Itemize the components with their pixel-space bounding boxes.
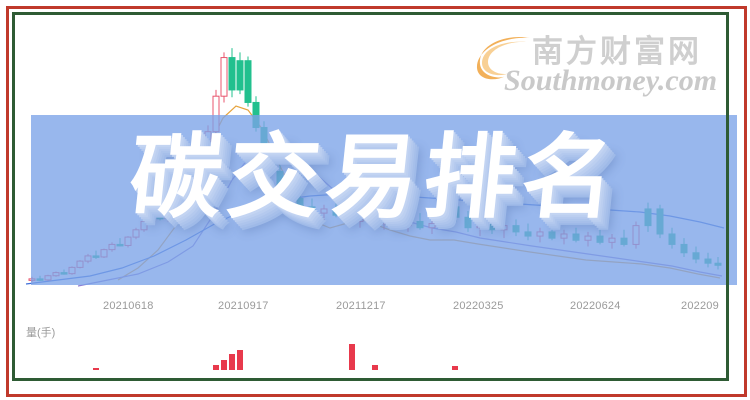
candle-body [237, 61, 243, 90]
candle-body [645, 209, 651, 226]
candle-body [285, 188, 291, 198]
candle-body [125, 237, 131, 245]
candle-body [109, 244, 115, 249]
candle-body [229, 58, 235, 90]
ma-line [78, 146, 722, 286]
candle-body [297, 198, 303, 206]
candle-body [261, 128, 267, 151]
candle-body [417, 221, 423, 227]
candle-body [345, 215, 351, 221]
candle-body [381, 219, 387, 223]
candle-body [37, 279, 43, 281]
candle-body [309, 207, 315, 213]
stock-chart: 2021061820210917202112172022032520220624… [18, 18, 732, 382]
volume-bar [213, 365, 219, 370]
x-axis-tick-label: 20220624 [570, 300, 621, 312]
candle-body [333, 209, 339, 215]
candle-body [441, 207, 447, 224]
candle-body [357, 217, 363, 221]
candle-body [585, 236, 591, 240]
candle-body [85, 256, 91, 261]
volume-bar [372, 365, 378, 370]
candle-body [181, 174, 187, 191]
candle-body [633, 226, 639, 245]
candle-body [705, 259, 711, 263]
candle-body [573, 234, 579, 240]
candle-body [429, 224, 435, 228]
candle-body [221, 58, 227, 97]
candle-body [393, 219, 399, 225]
candle-body [277, 171, 283, 188]
candle-body [369, 217, 375, 223]
candle-body [101, 250, 107, 257]
x-axis-tick-label: 20210917 [218, 300, 269, 312]
candle-body [489, 224, 495, 230]
price-pane [18, 18, 732, 288]
candle-body [715, 263, 721, 265]
volume-bar [237, 350, 243, 370]
candle-body [621, 238, 627, 244]
candle-body [69, 267, 75, 273]
volume-pane: 量(手) [18, 324, 732, 382]
volume-axis-label: 量(手) [26, 324, 55, 340]
volume-bar [93, 368, 99, 370]
candle-body [149, 217, 155, 221]
volume-bars-group [93, 344, 458, 370]
candle-body [549, 232, 555, 238]
candle-body [657, 209, 663, 234]
candle-body [77, 261, 83, 267]
candle-body [597, 236, 603, 242]
candles-group [29, 48, 721, 282]
screenshot-root: 2021061820210917202112172022032520220624… [0, 0, 750, 400]
candle-body [253, 102, 259, 127]
candle-body [197, 155, 203, 158]
candle-body [609, 238, 615, 242]
candle-body [453, 207, 459, 217]
volume-bar [349, 344, 355, 370]
volume-svg [18, 324, 732, 382]
candle-body [537, 232, 543, 236]
candle-body [269, 150, 275, 171]
candle-body [405, 221, 411, 225]
candle-body [29, 279, 35, 281]
candle-body [45, 276, 51, 280]
candle-body [213, 96, 219, 131]
candle-body [681, 244, 687, 252]
candle-body [245, 61, 251, 103]
volume-bar [229, 354, 235, 370]
candle-body [117, 244, 123, 246]
candle-body [53, 273, 59, 276]
x-axis-tick-label: 20210618 [103, 300, 154, 312]
x-axis-tick-label: 202209 [681, 300, 719, 312]
candle-body [61, 273, 67, 275]
candle-body [321, 209, 327, 213]
candle-body [133, 230, 139, 237]
candle-body [93, 256, 99, 258]
candle-body [693, 253, 699, 259]
candle-body [513, 226, 519, 232]
candle-body [141, 221, 147, 229]
volume-bar [452, 366, 458, 370]
candle-body [477, 224, 483, 228]
candle-body [189, 158, 195, 175]
volume-bar [221, 360, 227, 370]
candle-body [157, 217, 163, 219]
candle-body [525, 232, 531, 236]
x-axis-tick-label: 20211217 [336, 300, 386, 312]
x-axis: 2021061820210917202112172022032520220624… [18, 300, 732, 322]
ma-lines-group [26, 106, 724, 286]
candle-body [173, 191, 179, 206]
candle-body [205, 132, 211, 155]
candlestick-svg [18, 18, 732, 288]
x-axis-tick-label: 20220325 [453, 300, 504, 312]
candle-body [501, 226, 507, 230]
candle-body [561, 234, 567, 238]
candle-body [465, 217, 471, 227]
candle-body [165, 206, 171, 219]
candle-body [669, 234, 675, 244]
